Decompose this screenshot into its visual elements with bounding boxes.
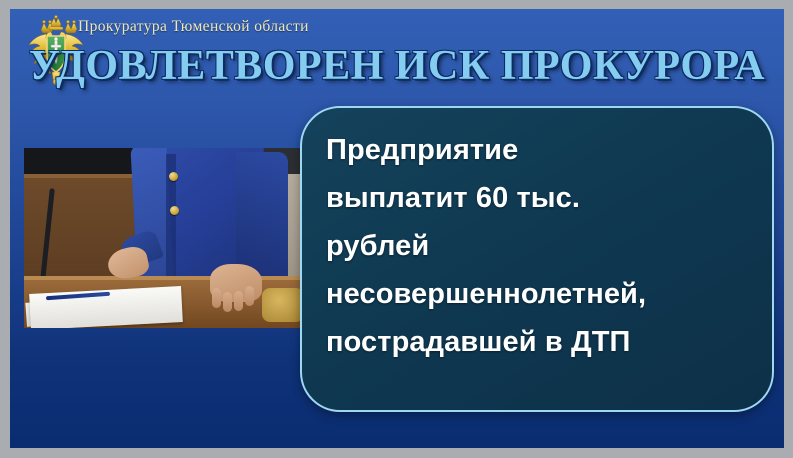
prosecutor-at-desk-photo	[24, 148, 302, 328]
headline-text: Предприятие выплатит 60 тыс. рублей несо…	[326, 126, 758, 366]
organization-name: Прокуратура Тюменской области	[78, 18, 309, 36]
screenshot-root: Прокуратура Тюменской области УДОВЛЕТВОР…	[0, 0, 793, 458]
card-header: Прокуратура Тюменской области УДОВЛЕТВОР…	[10, 9, 784, 107]
photo-gold-object	[262, 288, 302, 322]
photo-finger	[245, 286, 254, 306]
photo-finger	[234, 291, 243, 311]
headline-line: Предприятие	[326, 126, 758, 174]
photo-right-hand	[210, 264, 262, 302]
photo-finger	[223, 292, 232, 312]
photo-uniform-button	[170, 206, 179, 215]
headline-line: пострадавшей в ДТП	[326, 318, 758, 366]
headline-line: рублей	[326, 222, 758, 270]
announcement-card: Прокуратура Тюменской области УДОВЛЕТВОР…	[10, 9, 784, 448]
headline-line: несовершеннолетней,	[326, 270, 758, 318]
headline-panel: Предприятие выплатит 60 тыс. рублей несо…	[300, 106, 774, 412]
photo-finger	[212, 288, 221, 308]
photo-uniform-button	[169, 172, 178, 181]
headline-line: выплатит 60 тыс.	[326, 174, 758, 222]
page-title: УДОВЛЕТВОРЕН ИСК ПРОКУРОРА	[10, 41, 784, 91]
